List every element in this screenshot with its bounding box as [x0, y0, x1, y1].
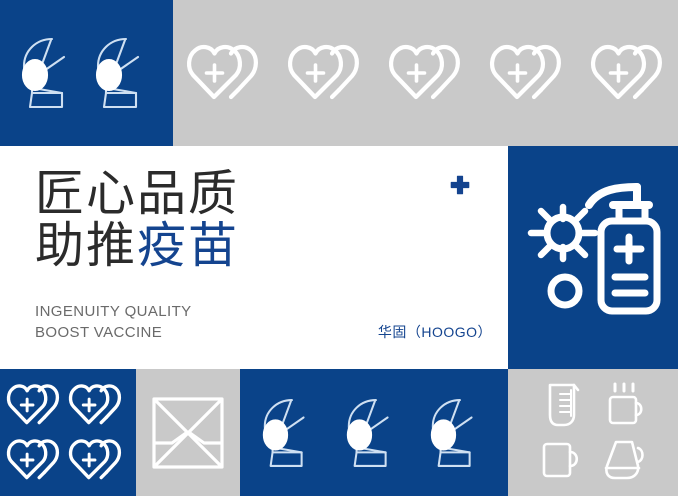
double-heart-plus-icon: [7, 438, 67, 482]
double-heart-plus-icon: [187, 43, 269, 103]
beaker-icon: [542, 382, 582, 428]
image-placeholder-wrapper: [136, 369, 240, 496]
bottom-vessel-icon-grid: [508, 369, 678, 496]
plus-icon: [450, 175, 470, 195]
poster-canvas: 匠心品质 助推疫苗 INGENUITY QUALITY BOOST VACCIN…: [0, 0, 678, 496]
top-mask-icon-row: [0, 0, 173, 146]
sanitizer-icon-group: [508, 146, 678, 369]
masked-face-icon: [427, 396, 489, 470]
masked-face-icon: [343, 396, 405, 470]
double-heart-plus-icon: [69, 438, 129, 482]
sanitizer-bottle-icon: [589, 187, 657, 311]
double-heart-plus-icon: [7, 383, 67, 427]
double-heart-plus-icon: [490, 43, 572, 103]
double-heart-plus-icon: [69, 383, 129, 427]
headline-line-2: 助推疫苗: [35, 220, 335, 272]
headline-line-1: 匠心品质: [35, 168, 335, 220]
double-heart-plus-icon: [389, 43, 471, 103]
masked-face-icon: [259, 396, 321, 470]
bottom-heart-icon-grid: [0, 369, 136, 496]
ring-icon: [551, 277, 579, 305]
top-heart-icon-row: [173, 0, 678, 146]
headline-block: 匠心品质 助推疫苗: [35, 168, 335, 272]
mug-icon: [540, 440, 584, 480]
english-subtitle-line-2: BOOST VACCINE: [35, 322, 192, 343]
image-placeholder-icon: [152, 397, 224, 469]
headline-line-2-accent: 疫苗: [137, 219, 239, 273]
double-heart-plus-icon: [591, 43, 673, 103]
headline-line-2-dark: 助推: [35, 219, 137, 273]
kettle-icon: [602, 438, 648, 482]
double-heart-plus-icon: [288, 43, 370, 103]
bottom-mask-icon-row: [240, 369, 508, 496]
english-subtitle-line-1: INGENUITY QUALITY: [35, 301, 192, 322]
virus-icon: [531, 207, 595, 259]
masked-face-icon: [18, 35, 82, 111]
brand-name: 华固（HOOGO）: [378, 322, 492, 342]
steaming-mug-icon: [602, 382, 648, 428]
masked-face-icon: [92, 35, 156, 111]
english-subtitle: INGENUITY QUALITY BOOST VACCINE: [35, 301, 192, 343]
